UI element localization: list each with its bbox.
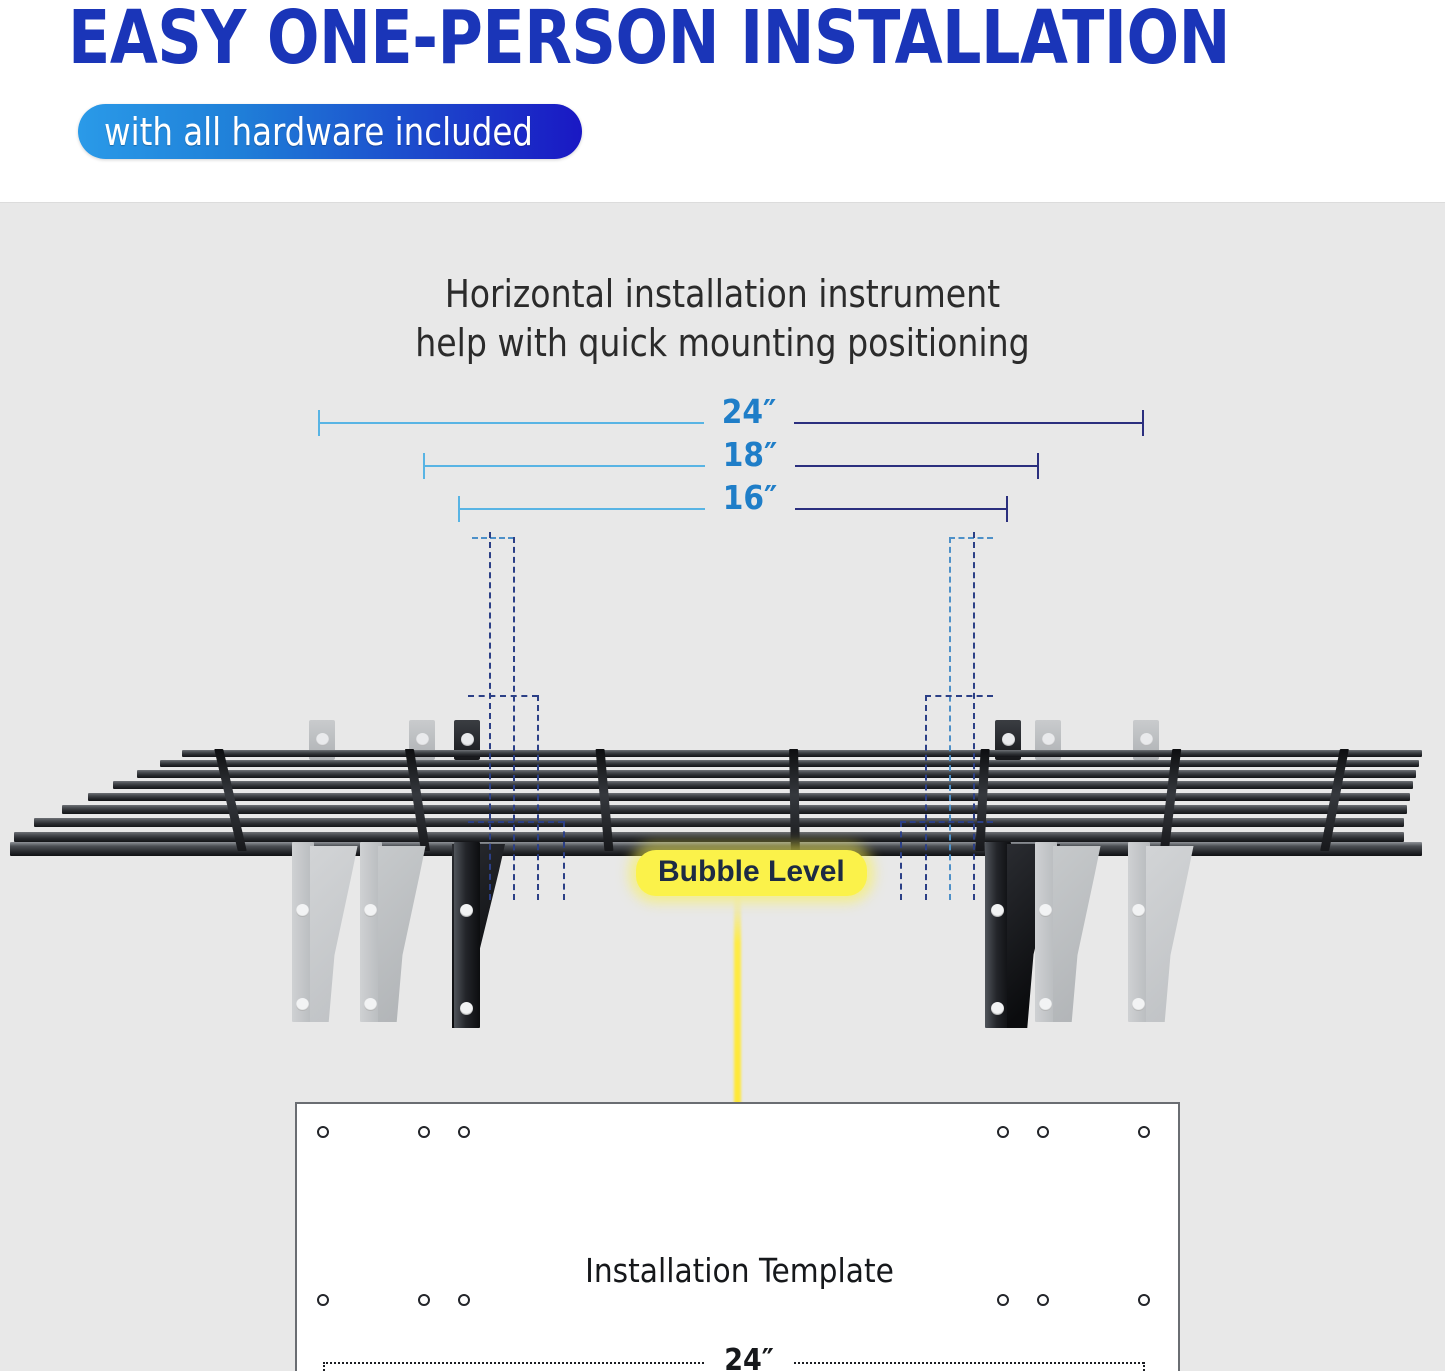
template-dim-line-left-24 — [323, 1362, 704, 1364]
bracket-wall-plate — [454, 842, 480, 1028]
dimension-cap-right — [1037, 453, 1039, 479]
shelf-slat — [113, 781, 1413, 789]
header-banner: EASY ONE-PERSON INSTALLATION with all ha… — [0, 0, 1445, 202]
dimension-segment-left — [459, 508, 705, 510]
dimension-segment-right — [794, 422, 1143, 424]
support-bracket-ghost — [1128, 842, 1248, 1022]
shelf-slat — [137, 770, 1416, 778]
template-dim-line-right-24 — [794, 1362, 1144, 1364]
dimension-label-18: 18″ — [705, 438, 795, 472]
connector-dash-vertical — [537, 695, 539, 900]
connector-dash-vertical — [925, 695, 927, 900]
wall-shelf-product — [0, 512, 1445, 842]
dimension-label-24: 24″ — [704, 395, 794, 429]
dimension-segment-left — [424, 465, 705, 467]
bracket-hole — [460, 1002, 473, 1015]
template-hole — [997, 1294, 1009, 1306]
dimension-cap-right — [1142, 410, 1144, 436]
template-dim-label-24: 24″ — [704, 1344, 794, 1371]
wall-tab-hole — [316, 733, 329, 746]
connector-dash-horizontal — [925, 695, 993, 697]
shelf-slat — [14, 832, 1404, 842]
bracket-hole — [1132, 998, 1145, 1011]
dimension-row-18: 18″ — [0, 448, 1445, 482]
wall-tab-hole — [416, 733, 429, 746]
bracket-gusset — [1053, 846, 1125, 1022]
bubble-level-callout: Bubble Level — [636, 850, 867, 896]
connector-dash-horizontal — [900, 821, 993, 823]
subtitle-text: Horizontal installation instrument help … — [0, 270, 1445, 368]
support-bracket-active — [432, 842, 562, 1028]
subtitle-line-1: Horizontal installation instrument — [22, 270, 1424, 319]
main-illustration-panel: Horizontal installation instrument help … — [0, 202, 1445, 1371]
connector-dash-vertical — [973, 532, 975, 900]
bracket-hole — [460, 904, 473, 917]
connector-dash-vertical — [563, 821, 565, 900]
connector-dash-horizontal — [472, 537, 514, 539]
template-hole — [997, 1126, 1009, 1138]
bracket-hole — [991, 1002, 1004, 1015]
template-hole — [458, 1126, 470, 1138]
wall-tab-hole — [1002, 733, 1015, 746]
template-hole — [418, 1294, 430, 1306]
template-hole — [317, 1126, 329, 1138]
connector-dash-horizontal — [949, 537, 993, 539]
template-dim-tick-right-24 — [1143, 1362, 1145, 1371]
dimension-row-24: 24″ — [0, 405, 1445, 439]
connector-dash-horizontal — [468, 695, 538, 697]
dimension-label-16: 16″ — [705, 481, 795, 515]
page-title: EASY ONE-PERSON INSTALLATION — [68, 0, 1230, 80]
connector-dash-vertical — [513, 537, 515, 900]
bracket-hole — [1132, 904, 1145, 917]
bracket-hole — [991, 904, 1004, 917]
connector-dash-vertical — [900, 821, 902, 900]
template-hole — [1037, 1294, 1049, 1306]
dimension-segment-left — [319, 422, 704, 424]
hardware-included-badge: with all hardware included — [78, 104, 582, 159]
dimension-segment-right — [795, 465, 1038, 467]
template-hole — [458, 1294, 470, 1306]
shelf-slat — [62, 805, 1407, 814]
template-hole — [317, 1294, 329, 1306]
badge-label: with all hardware included — [104, 112, 533, 152]
panel-divider — [0, 202, 1445, 203]
dimension-segment-right — [795, 508, 1007, 510]
wall-tab-hole — [1042, 733, 1055, 746]
installation-template-sheet: Installation Template 24″ 18″ 16″ — [295, 1102, 1180, 1371]
bracket-hole — [296, 998, 309, 1011]
shelf-crossbar — [789, 749, 800, 851]
template-hole — [418, 1126, 430, 1138]
bubble-level-label: Bubble Level — [658, 855, 845, 888]
wall-tab-hole — [1140, 733, 1153, 746]
shelf-slat — [182, 750, 1422, 757]
template-hole — [1037, 1126, 1049, 1138]
connector-dash-horizontal — [468, 821, 564, 823]
bracket-hole — [364, 998, 377, 1011]
connector-dash-vertical — [949, 537, 951, 900]
shelf-slat — [88, 793, 1410, 801]
bracket-hole — [1039, 998, 1052, 1011]
template-hole — [1138, 1294, 1150, 1306]
bracket-hole — [364, 904, 377, 917]
template-label: Installation Template — [297, 1252, 1182, 1290]
template-hole — [1138, 1126, 1150, 1138]
bracket-hole — [1039, 904, 1052, 917]
bracket-hole — [296, 904, 309, 917]
wall-tab-hole — [461, 733, 474, 746]
subtitle-line-2: help with quick mounting positioning — [22, 319, 1424, 368]
connector-dash-vertical — [489, 532, 491, 900]
bracket-gusset — [1146, 846, 1218, 1022]
